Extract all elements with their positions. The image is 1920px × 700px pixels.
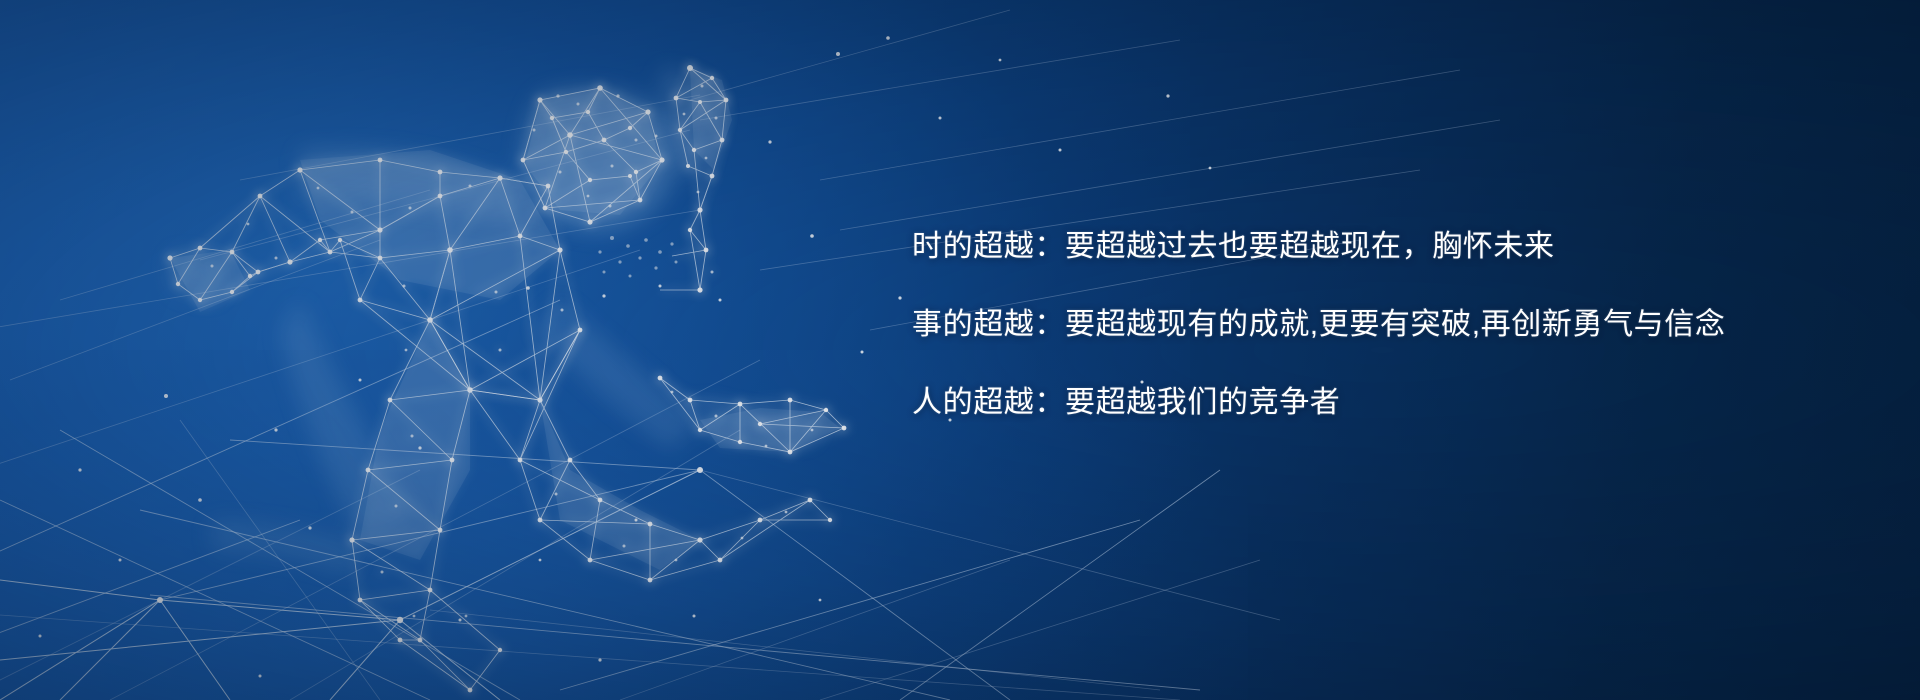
- copy-line-matter: 事的超越：要超越现有的成就,更要有突破,再创新勇气与信念: [912, 310, 1812, 340]
- hero-banner: 时的超越：要超越过去也要超越现在，胸怀未来 事的超越：要超越现有的成就,更要有突…: [0, 0, 1920, 700]
- copy-line-time: 时的超越：要超越过去也要超越现在，胸怀未来: [912, 232, 1812, 262]
- banner-copy-block: 时的超越：要超越过去也要超越现在，胸怀未来 事的超越：要超越现有的成就,更要有突…: [912, 232, 1812, 418]
- copy-line-people: 人的超越：要超越我们的竞争者: [912, 388, 1812, 418]
